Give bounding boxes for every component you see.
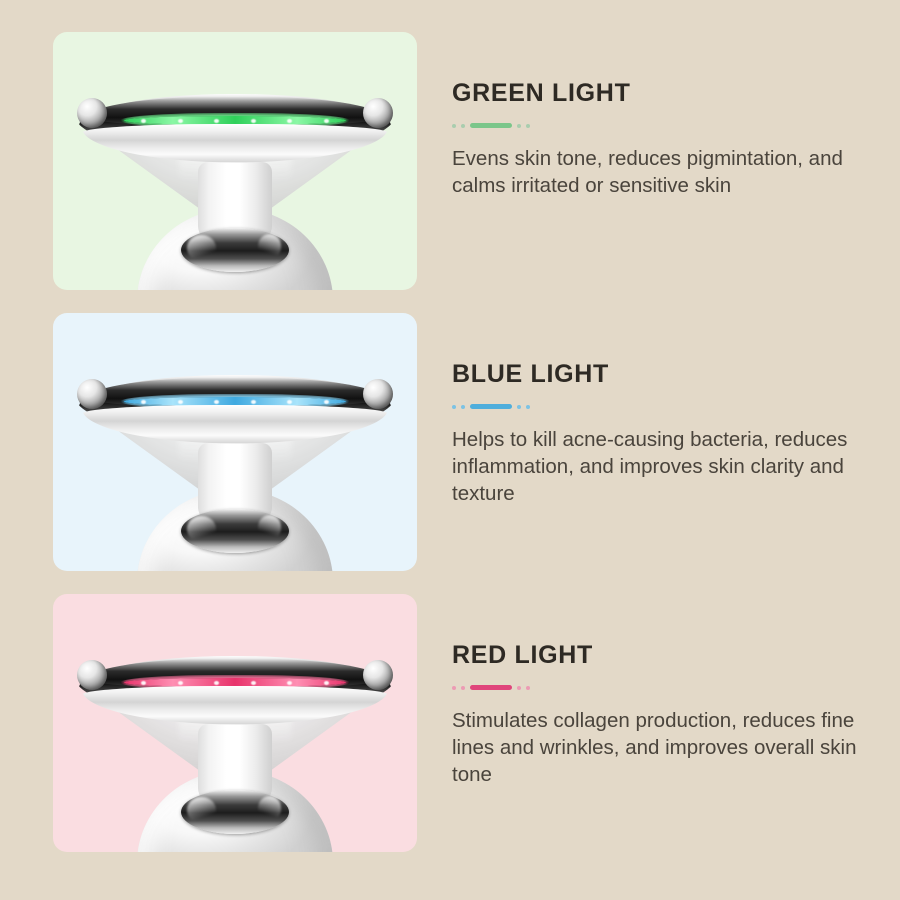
light-mode-row-green: GREEN LIGHT Evens skin tone, reduces pig… <box>53 32 880 290</box>
led-dot <box>178 119 183 123</box>
light-mode-text-blue: BLUE LIGHT Helps to kill acne-causing ba… <box>417 313 880 571</box>
light-mode-description-red: Stimulates collagen production, reduces … <box>452 707 872 788</box>
divider-dot <box>517 405 521 409</box>
device-chrome-collar <box>181 509 289 553</box>
device-chrome-collar <box>181 228 289 272</box>
divider-dot <box>452 405 456 409</box>
light-mode-text-red: RED LIGHT Stimulates collagen production… <box>417 594 880 852</box>
led-dot <box>214 119 219 123</box>
divider-bar <box>470 685 512 690</box>
divider-dot <box>526 124 530 128</box>
divider-bar <box>470 404 512 409</box>
light-mode-text-green: GREEN LIGHT Evens skin tone, reduces pig… <box>417 32 880 290</box>
light-mode-description-green: Evens skin tone, reduces pigmintation, a… <box>452 145 872 199</box>
light-mode-description-blue: Helps to kill acne-causing bacteria, red… <box>452 426 872 507</box>
device-ball-end-left <box>77 660 107 690</box>
divider-blue <box>452 404 880 410</box>
divider-dot <box>461 686 465 690</box>
light-mode-title-red: RED LIGHT <box>452 642 880 670</box>
divider-dot <box>517 124 521 128</box>
product-card-blue <box>53 313 417 571</box>
divider-dot <box>526 686 530 690</box>
light-mode-title-green: GREEN LIGHT <box>452 80 880 108</box>
led-dot <box>287 400 292 404</box>
divider-dot <box>517 686 521 690</box>
device-head <box>79 656 391 730</box>
led-dot <box>324 400 329 404</box>
product-card-green <box>53 32 417 290</box>
device-head-lip <box>82 405 388 445</box>
divider-green <box>452 123 880 129</box>
led-dot <box>141 400 146 404</box>
device-head-lip <box>82 124 388 164</box>
device-image-blue <box>53 313 417 571</box>
led-dot <box>324 119 329 123</box>
device-head <box>79 375 391 449</box>
light-mode-row-blue: BLUE LIGHT Helps to kill acne-causing ba… <box>53 313 880 571</box>
divider-dot <box>452 124 456 128</box>
device-ball-end-left <box>77 98 107 128</box>
divider-dot <box>452 686 456 690</box>
device-image-red <box>53 594 417 852</box>
led-light-therapy-infographic: GREEN LIGHT Evens skin tone, reduces pig… <box>0 0 900 900</box>
led-dot <box>287 119 292 123</box>
led-dot <box>214 681 219 685</box>
device-ball-end-right <box>363 379 393 409</box>
device-ball-end-right <box>363 660 393 690</box>
led-dot <box>251 681 256 685</box>
divider-dot <box>526 405 530 409</box>
led-dot <box>324 681 329 685</box>
divider-red <box>452 685 880 691</box>
device-head <box>79 94 391 168</box>
led-dot <box>287 681 292 685</box>
light-mode-row-red: RED LIGHT Stimulates collagen production… <box>53 594 880 852</box>
device-ball-end-left <box>77 379 107 409</box>
divider-bar <box>470 123 512 128</box>
device-chrome-collar <box>181 790 289 834</box>
device-head-lip <box>82 686 388 726</box>
product-card-red <box>53 594 417 852</box>
led-dot <box>214 400 219 404</box>
led-dot <box>141 119 146 123</box>
led-dot <box>251 119 256 123</box>
divider-dot <box>461 124 465 128</box>
led-dot <box>141 681 146 685</box>
device-ball-end-right <box>363 98 393 128</box>
led-dot <box>251 400 256 404</box>
device-image-green <box>53 32 417 290</box>
led-dot <box>178 681 183 685</box>
light-mode-title-blue: BLUE LIGHT <box>452 361 880 389</box>
divider-dot <box>461 405 465 409</box>
led-dot <box>178 400 183 404</box>
